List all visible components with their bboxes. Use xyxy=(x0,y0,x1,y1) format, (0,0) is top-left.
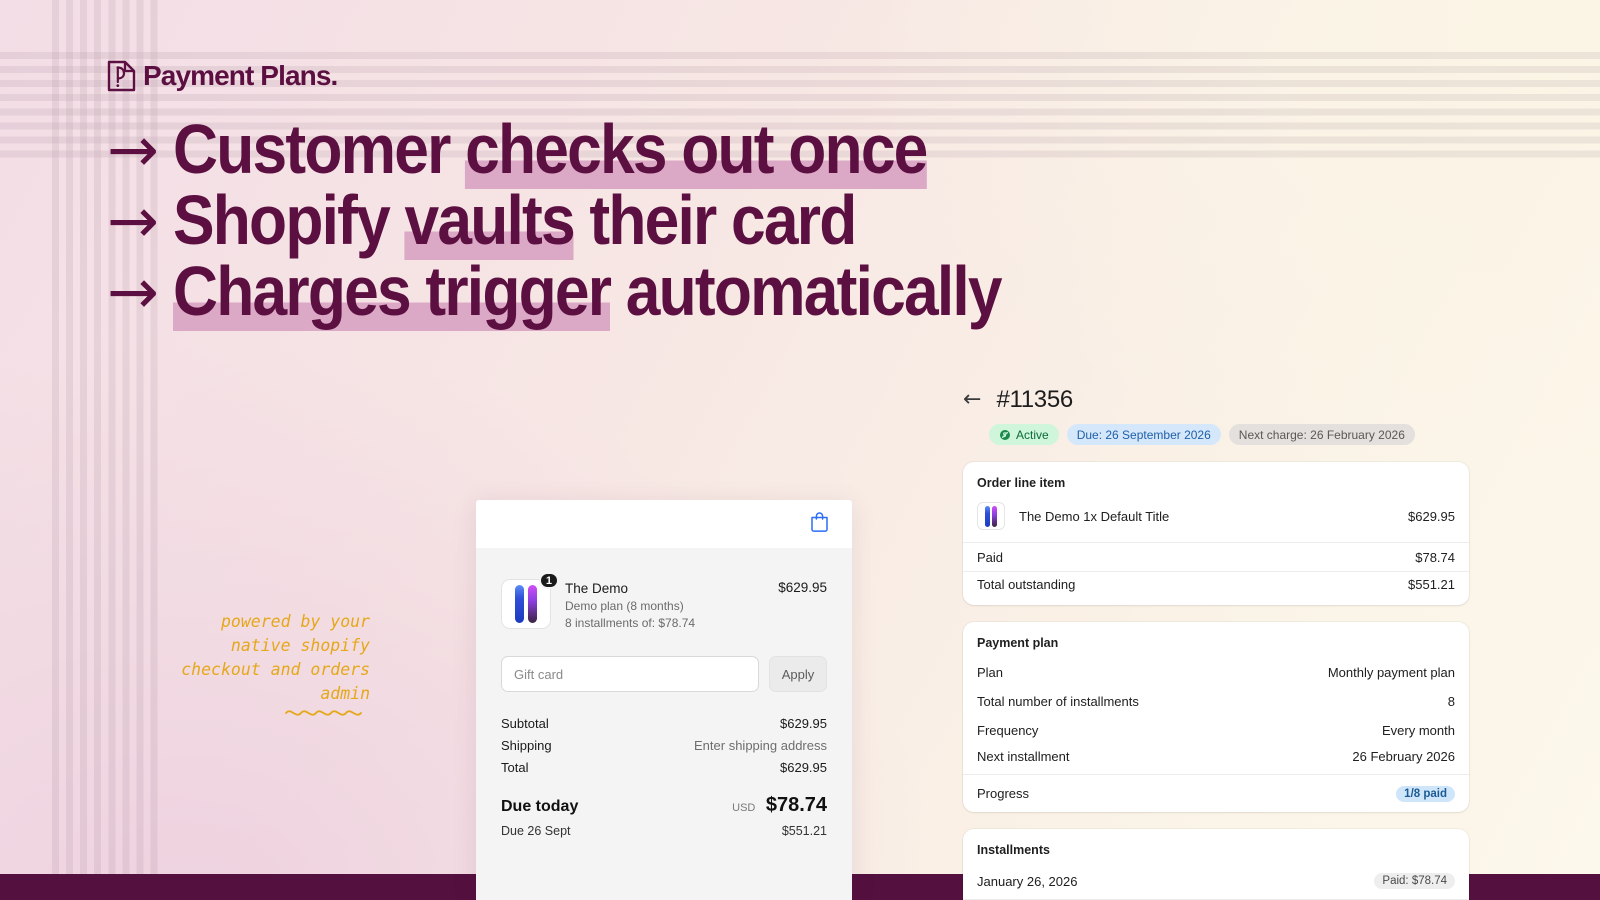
payment-plan-installments-label: Total number of installments xyxy=(977,694,1139,709)
order-line-item-card: Order line item The Demo 1x Default Titl… xyxy=(963,462,1469,605)
due-today-row: Due today USD $78.74 xyxy=(501,794,827,817)
checkout-item-subtitle: Demo plan (8 months) xyxy=(565,598,778,615)
payment-plan-row-installments: Total number of installments 8 xyxy=(963,687,1469,716)
status-badge-next-charge: Next charge: 26 February 2026 xyxy=(1229,424,1415,445)
order-line-item-outstanding-value: $551.21 xyxy=(1408,577,1455,592)
snowboard-purple-icon xyxy=(528,585,537,623)
headline-line-1: → Customer checks out once xyxy=(107,114,1103,185)
order-id-title: #11356 xyxy=(996,386,1073,414)
due-today-amount-wrap: USD $78.74 xyxy=(732,794,827,817)
installment-status-pill: Paid: $78.74 xyxy=(1374,873,1455,889)
snowboard-blue-icon xyxy=(985,506,990,527)
headline-text-3: Charges trigger automatically xyxy=(173,256,1001,327)
status-badge-active: Active xyxy=(989,424,1059,445)
order-line-item-row: The Demo 1x Default Title $629.95 xyxy=(963,490,1469,542)
payment-plan-row-plan: Plan Monthly payment plan xyxy=(963,658,1469,687)
installments-title: Installments xyxy=(963,843,1469,857)
payment-plan-installments-value: 8 xyxy=(1448,694,1455,709)
payment-plan-plan-value: Monthly payment plan xyxy=(1328,665,1455,680)
checkout-summary-card: 1 The Demo Demo plan (8 months) 8 instal… xyxy=(476,500,852,900)
total-label-total: Total xyxy=(501,757,528,779)
total-label-shipping: Shipping xyxy=(501,735,552,757)
total-value-total: $629.95 xyxy=(780,757,827,779)
checkout-item-title: The Demo xyxy=(565,580,778,598)
due-next-label: Due 26 Sept xyxy=(501,824,571,838)
headline-line-3: → Charges trigger automatically xyxy=(107,256,1103,327)
due-today-amount: $78.74 xyxy=(766,794,827,816)
headline-highlight-3: Charges trigger xyxy=(173,252,610,331)
shopping-bag-icon[interactable] xyxy=(810,511,829,537)
payment-plan-progress-pill: 1/8 paid xyxy=(1396,786,1455,802)
arrow-icon: → xyxy=(107,190,159,252)
order-line-item-paid-value: $78.74 xyxy=(1415,550,1455,565)
checkout-item-price: $629.95 xyxy=(778,579,827,595)
headline-post-3: automatically xyxy=(610,252,1001,330)
status-badge-row: Active Due: 26 September 2026 Next charg… xyxy=(989,424,1469,445)
admin-order-panel: ← #11356 Active Due: 26 September 2026 N… xyxy=(963,386,1469,900)
headline-pre-1: Customer xyxy=(173,110,465,188)
payment-plan-next-label: Next installment xyxy=(977,749,1069,764)
arrow-icon: → xyxy=(107,119,159,181)
order-line-item-product-price: $629.95 xyxy=(1408,509,1455,524)
headline-post-2: their card xyxy=(574,181,856,259)
snowboard-pair-thumbnail xyxy=(977,502,1005,530)
headline-highlight-1: checks out once xyxy=(465,110,926,189)
gift-card-row: Apply xyxy=(501,656,827,692)
total-row-subtotal: Subtotal $629.95 xyxy=(501,713,827,735)
apply-gift-card-button[interactable]: Apply xyxy=(769,656,827,692)
currency-code: USD xyxy=(732,802,755,814)
arrow-icon: → xyxy=(107,261,159,323)
due-next-row: Due 26 Sept $551.21 xyxy=(501,824,827,838)
back-arrow-icon[interactable]: ← xyxy=(963,389,981,411)
headline-line-2: → Shopify vaults their card xyxy=(107,185,1103,256)
payment-plan-card: Payment plan Plan Monthly payment plan T… xyxy=(963,622,1469,812)
status-badge-active-label: Active xyxy=(1016,428,1049,442)
order-line-item-paid-label: Paid xyxy=(977,550,1003,565)
payment-plan-frequency-label: Frequency xyxy=(977,723,1038,738)
brand-logo: Payment Plans. xyxy=(107,60,337,92)
order-line-item-outstanding-label: Total outstanding xyxy=(977,577,1075,592)
order-line-item-title: Order line item xyxy=(963,476,1469,490)
payment-plan-row-frequency: Frequency Every month xyxy=(963,716,1469,745)
checkout-item-installments: 8 installments of: $78.74 xyxy=(565,615,778,632)
headline-text-2: Shopify vaults their card xyxy=(173,185,856,256)
status-badge-due: Due: 26 September 2026 xyxy=(1067,424,1221,445)
headline-text-1: Customer checks out once xyxy=(173,114,927,185)
total-value-shipping: Enter shipping address xyxy=(694,735,827,757)
document-p-icon xyxy=(107,60,136,92)
payment-plan-next-value: 26 February 2026 xyxy=(1352,749,1455,764)
checkout-totals: Subtotal $629.95 Shipping Enter shipping… xyxy=(501,713,827,838)
brand-wordmark: Payment Plans. xyxy=(143,60,337,92)
powered-by-note: powered by your native shopify checkout … xyxy=(120,610,370,706)
note-line-2: native shopify xyxy=(120,634,370,658)
payment-plan-row-next: Next installment 26 February 2026 xyxy=(963,745,1469,774)
order-line-item-product-name: The Demo 1x Default Title xyxy=(1005,509,1408,524)
checkout-item-info: The Demo Demo plan (8 months) 8 installm… xyxy=(551,579,778,632)
checkout-line-item: 1 The Demo Demo plan (8 months) 8 instal… xyxy=(501,548,827,632)
total-row-shipping: Shipping Enter shipping address xyxy=(501,735,827,757)
payment-plan-plan-label: Plan xyxy=(977,665,1003,680)
installment-date: January 26, 2026 xyxy=(977,874,1077,889)
payment-plan-title: Payment plan xyxy=(963,636,1469,650)
total-value-subtotal: $629.95 xyxy=(780,713,827,735)
due-next-amount: $551.21 xyxy=(782,824,827,838)
quantity-badge: 1 xyxy=(539,572,559,589)
installments-card: Installments January 26, 2026 Paid: $78.… xyxy=(963,829,1469,900)
payment-plan-progress-label: Progress xyxy=(977,786,1029,801)
note-line-4: admin xyxy=(120,682,370,706)
order-line-item-row-paid: Paid $78.74 xyxy=(963,542,1469,571)
checkout-header xyxy=(476,500,852,548)
checkout-body: 1 The Demo Demo plan (8 months) 8 instal… xyxy=(476,548,852,838)
squiggle-underline-icon xyxy=(284,706,370,718)
status-active-icon xyxy=(999,429,1011,441)
gift-card-input[interactable] xyxy=(501,656,759,692)
order-line-item-row-outstanding: Total outstanding $551.21 xyxy=(963,571,1469,605)
installment-row: January 26, 2026 Paid: $78.74 xyxy=(963,863,1469,899)
snowboard-purple-icon xyxy=(992,506,997,527)
payment-plan-frequency-value: Every month xyxy=(1382,723,1455,738)
product-thumbnail-wrap: 1 xyxy=(501,579,551,629)
total-label-subtotal: Subtotal xyxy=(501,713,549,735)
total-row-total: Total $629.95 xyxy=(501,757,827,779)
due-today-label: Due today xyxy=(501,798,578,816)
payment-plan-row-progress: Progress 1/8 paid xyxy=(963,774,1469,812)
headline: → Customer checks out once → Shopify vau… xyxy=(107,114,1103,327)
admin-header: ← #11356 xyxy=(963,386,1469,414)
snowboard-blue-icon xyxy=(515,585,524,623)
headline-pre-2: Shopify xyxy=(173,181,404,259)
note-line-3: checkout and orders xyxy=(120,658,370,682)
headline-highlight-2: vaults xyxy=(404,181,573,260)
note-line-1: powered by your xyxy=(120,610,370,634)
